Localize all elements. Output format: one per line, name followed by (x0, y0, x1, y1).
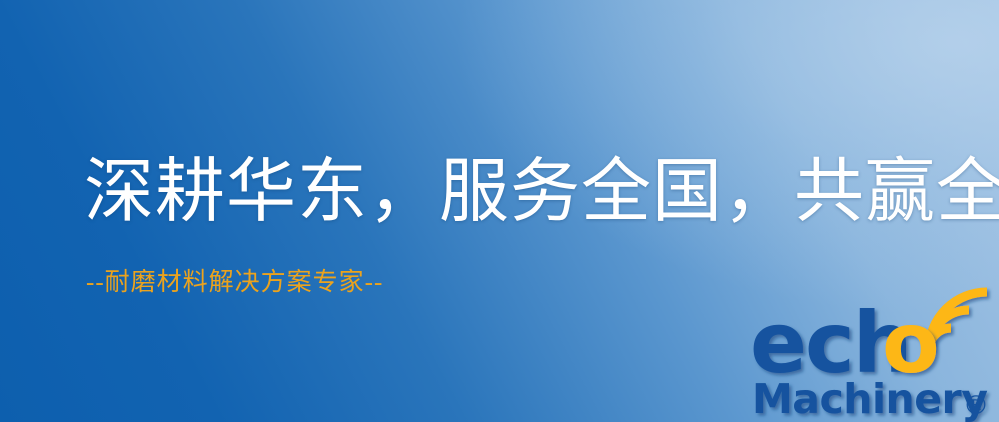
logo-registered-mark: ® (963, 391, 989, 421)
banner-subtitle: --耐磨材料解决方案专家-- (86, 268, 383, 298)
hero-banner: 深耕华东，服务全国，共赢全球 --耐磨材料解决方案专家-- ech o (0, 0, 999, 422)
echo-machinery-logo[interactable]: ech o Machinery ® (748, 296, 999, 422)
banner-headline: 深耕华东，服务全国，共赢全球 (84, 151, 999, 235)
logo-tagline: Machinery (752, 375, 987, 422)
